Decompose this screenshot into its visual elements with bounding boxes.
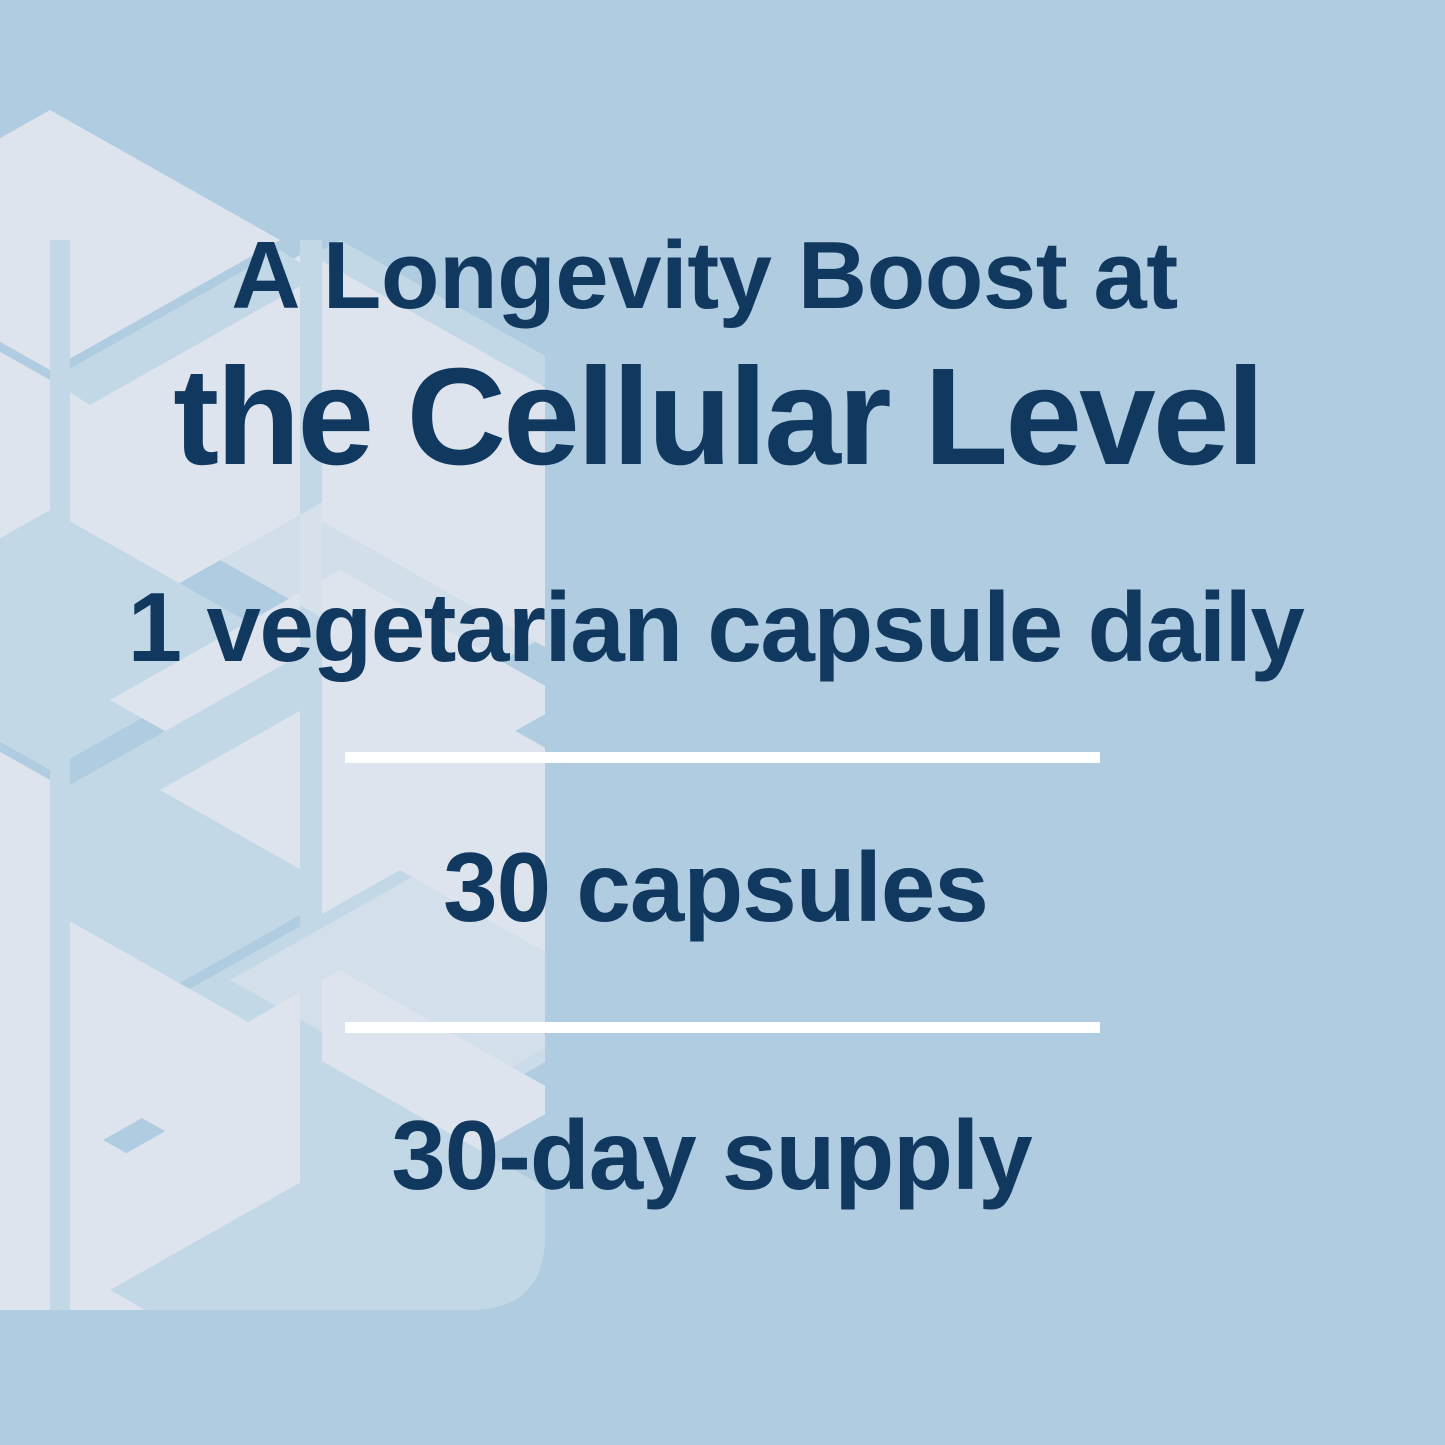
supply-duration-text: 30-day supply [0,1106,1445,1204]
eyebrow-text: A Longevity Boost at [0,228,1445,324]
divider-rule-bottom [345,1022,1100,1033]
product-infographic-tile: A Longevity Boost at the Cellular Level … [0,0,1445,1445]
isometric-cube-pattern [0,0,1445,1445]
dosage-text: 1 vegetarian capsule daily [0,578,1445,676]
divider-rule-top [345,752,1100,763]
headline-text: the Cellular Level [0,348,1445,486]
capsule-count-text: 30 capsules [0,838,1445,936]
